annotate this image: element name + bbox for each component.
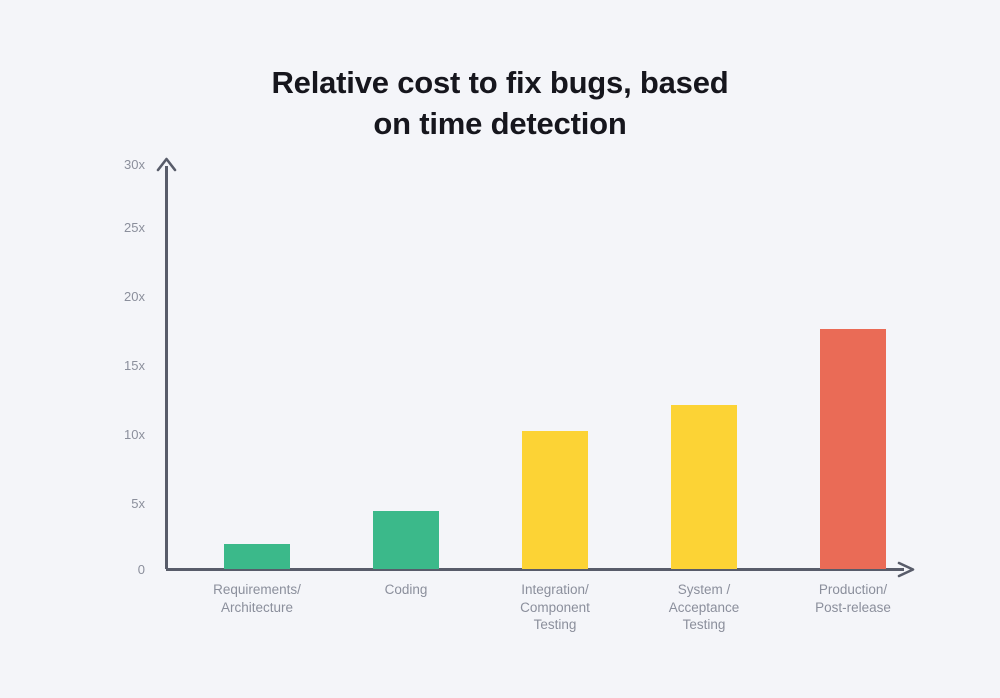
x-tick-label-coding: Coding (331, 581, 481, 599)
bar-chart-plot-area: 30x 25x 20x 15x 10x 5x 0 Requirements/ A… (0, 0, 1000, 698)
y-axis-arrow-icon (156, 156, 177, 172)
x-tick-label-requirements-architecture: Requirements/ Architecture (182, 581, 332, 616)
y-tick-label-15x: 15x (65, 359, 145, 372)
y-tick-label-0: 0 (65, 563, 145, 576)
y-tick-label-5x: 5x (65, 497, 145, 510)
bar-coding[interactable] (373, 511, 439, 569)
y-tick-label-30x: 30x (65, 158, 145, 171)
y-tick-label-25x: 25x (65, 221, 145, 234)
bar-production-post-release[interactable] (820, 329, 886, 569)
x-tick-label-production-post-release: Production/ Post-release (778, 581, 928, 616)
bar-system-acceptance-testing[interactable] (671, 405, 737, 569)
x-axis-arrow-icon (896, 561, 916, 578)
y-axis-line (165, 166, 168, 569)
x-tick-label-integration-component-testing: Integration/ Component Testing (480, 581, 630, 634)
bar-requirements-architecture[interactable] (224, 544, 290, 569)
y-tick-label-20x: 20x (65, 290, 145, 303)
x-tick-label-system-acceptance-testing: System / Acceptance Testing (629, 581, 779, 634)
y-tick-label-10x: 10x (65, 428, 145, 441)
bar-integration-component-testing[interactable] (522, 431, 588, 569)
chart-canvas: Relative cost to fix bugs, based on time… (0, 0, 1000, 698)
